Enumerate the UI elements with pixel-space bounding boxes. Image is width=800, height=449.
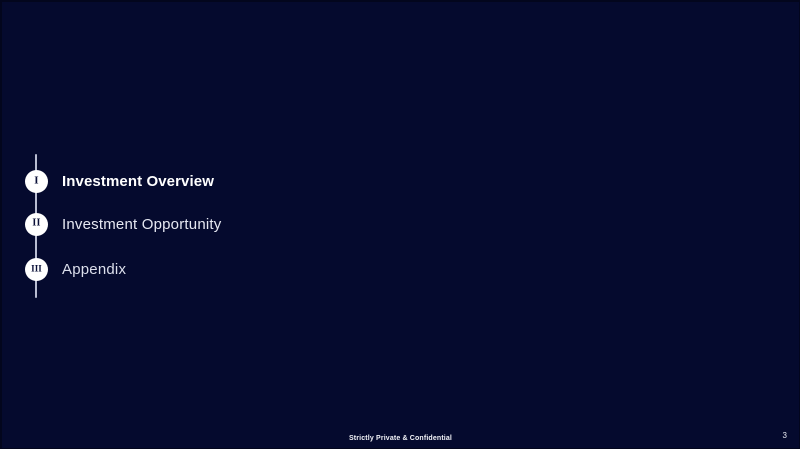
agenda-item-label-3: Appendix [62,262,126,277]
presentation-slide: I Investment Overview II Investment Oppo… [0,0,800,449]
agenda-item-label-1: Investment Overview [62,174,214,189]
agenda-marker-circle-1: I [25,170,48,193]
agenda-item-investment-opportunity[interactable]: II Investment Opportunity [2,211,221,237]
roman-numeral-i-label: I [34,175,39,186]
agenda-item-label-2: Investment Opportunity [62,217,221,232]
agenda-timeline: I Investment Overview II Investment Oppo… [2,2,799,448]
roman-numeral-iii-label: III [31,264,42,273]
roman-numeral-ii-label: II [32,219,40,229]
agenda-marker-circle-2: II [25,213,48,236]
confidentiality-footer: Strictly Private & Confidential [2,435,799,442]
page-number: 3 [783,431,787,440]
agenda-marker-circle-3: III [25,258,48,281]
agenda-item-investment-overview[interactable]: I Investment Overview [2,168,214,194]
agenda-item-appendix[interactable]: III Appendix [2,256,126,282]
